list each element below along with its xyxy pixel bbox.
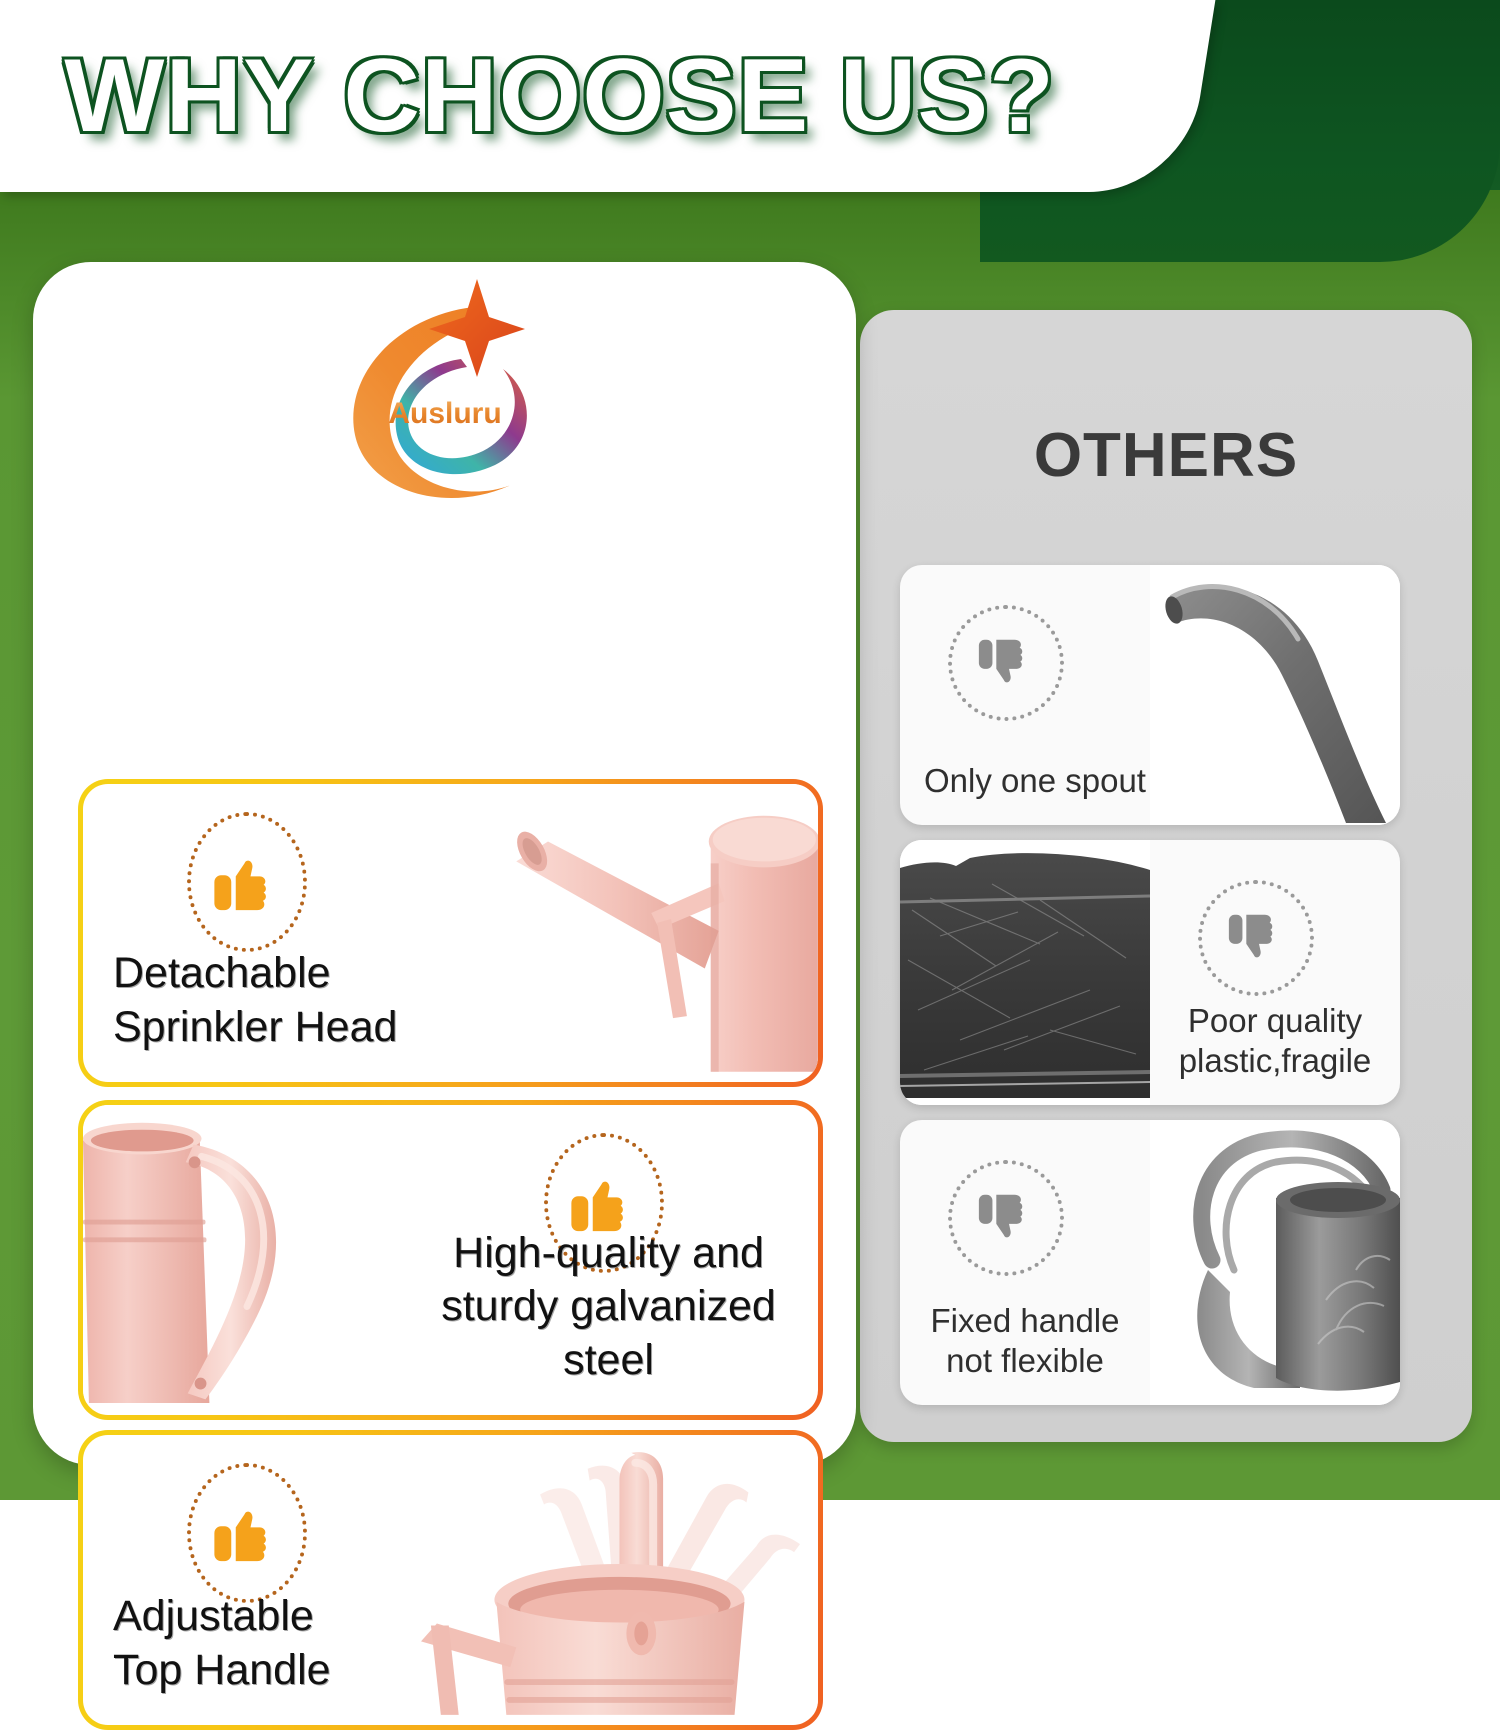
feature-text-side: Adjustable Top Handle: [83, 1435, 421, 1725]
brand-name: Ausluru: [388, 397, 501, 430]
feature-text-side: Detachable Sprinkler Head: [83, 784, 421, 1082]
brand-logo: Ausluru: [33, 270, 856, 510]
others-item: Poor quality plastic,fragile: [900, 840, 1400, 1105]
others-item: Fixed handle not flexible: [900, 1120, 1400, 1405]
feature-text-side: High-quality and sturdy galvanized steel: [399, 1105, 818, 1415]
others-item-label: Poor quality plastic,fragile: [1150, 1001, 1400, 1082]
thumbs-down-icon: [1198, 880, 1314, 996]
infographic-root: WHY CHOOSE US? OTHERS Only one spout: [0, 0, 1500, 1500]
feature-card: Adjustable Top Handle: [78, 1430, 823, 1730]
page-title: WHY CHOOSE US?: [65, 37, 1056, 156]
thumbs-down-icon: [948, 605, 1064, 721]
thumbs-up-icon: [187, 1463, 307, 1603]
others-item: Only one spout: [900, 565, 1400, 825]
feature-label: High-quality and sturdy galvanized steel: [399, 1227, 818, 1387]
feature-label: Detachable Sprinkler Head: [83, 947, 421, 1054]
others-panel-title: OTHERS: [860, 420, 1472, 491]
others-item-text-side: Poor quality plastic,fragile: [1150, 840, 1400, 1105]
us-panel: Ausluru Detachable Sprinkler Head: [33, 262, 856, 1465]
feature-image: [421, 1435, 818, 1725]
thumbs-up-icon: [187, 812, 307, 952]
others-panel: OTHERS Only one spout: [860, 310, 1472, 1442]
others-item-image: [900, 840, 1150, 1105]
thumbs-down-icon: [948, 1160, 1064, 1276]
feature-label: Adjustable Top Handle: [83, 1590, 421, 1697]
others-item-text-side: Only one spout: [900, 565, 1150, 825]
others-item-label: Fixed handle not flexible: [900, 1301, 1150, 1382]
star-swoosh-logo-icon: Ausluru: [325, 273, 565, 508]
others-item-text-side: Fixed handle not flexible: [900, 1120, 1150, 1405]
page-title-container: WHY CHOOSE US?: [0, 0, 1120, 192]
others-item-image: [1150, 565, 1400, 825]
feature-card: Detachable Sprinkler Head: [78, 779, 823, 1087]
others-item-image: [1150, 1120, 1400, 1405]
feature-card: High-quality and sturdy galvanized steel: [78, 1100, 823, 1420]
others-item-label: Only one spout: [900, 761, 1150, 801]
feature-image: [83, 1105, 399, 1415]
feature-image: [421, 784, 818, 1082]
